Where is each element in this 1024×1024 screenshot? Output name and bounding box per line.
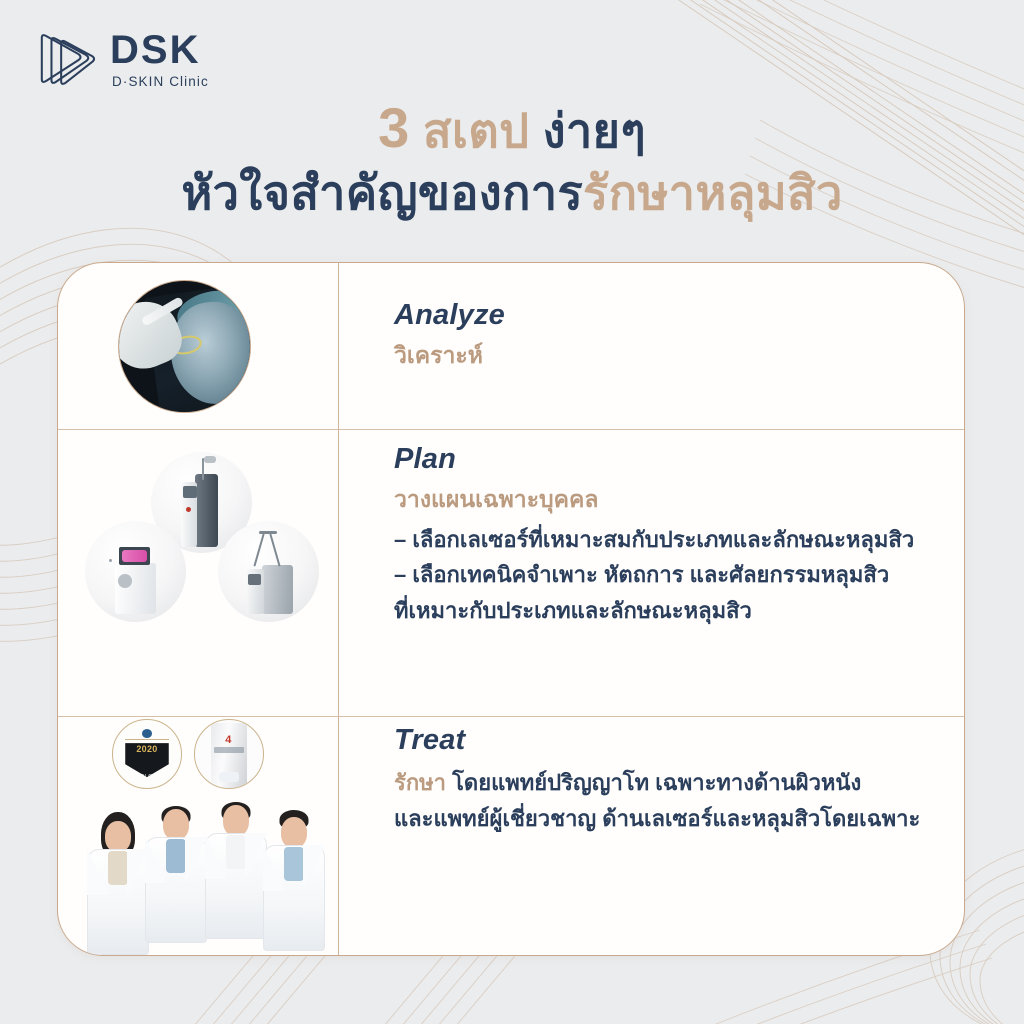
plan-line-2: – เลือกเทคนิคจำเพาะ หัตถการ และศัลยกรรมห… <box>394 557 964 593</box>
skin-analysis-photo <box>118 280 251 413</box>
plan-title-th: วางแผนเฉพาะบุคคล <box>394 482 964 518</box>
trophy-label: 4 <box>222 734 234 743</box>
brand-name: DSK <box>110 30 209 70</box>
treat-title-en: Treat <box>394 725 964 757</box>
brand-logo: DSK D·SKIN Clinic <box>36 28 209 90</box>
treat-line-2: และแพทย์ผู้เชี่ยวชาญ ด้านเลเซอร์และหลุมส… <box>394 801 964 837</box>
headline-line-1: 3 สเตป ง่ายๆ <box>0 96 1024 161</box>
laser-machine-photo-2 <box>85 521 186 622</box>
doctor-4 <box>258 813 330 955</box>
award-badge-2020: 2020 D·SKIN CLINIC <box>112 719 182 789</box>
analyze-media <box>58 263 338 429</box>
poster-canvas: DSK D·SKIN Clinic 3 สเตป ง่ายๆ หัวใจสำคั… <box>0 0 1024 1024</box>
treat-lead: รักษา <box>394 770 446 795</box>
plan-title-en: Plan <box>394 444 964 476</box>
doctors-team-photo <box>80 805 320 955</box>
treat-text: Treat รักษา โดยแพทย์ปริญญาโท เฉพาะทางด้า… <box>338 717 964 956</box>
treat-line-1-rest: โดยแพทย์ปริญญาโท เฉพาะทางด้านผิวหนัง <box>446 770 861 795</box>
headline-line-2-navy: หัวใจสำคัญของการ <box>181 166 583 219</box>
plan-text: Plan วางแผนเฉพาะบุคคล – เลือกเลเซอร์ที่เ… <box>338 430 964 716</box>
award-badge-trophy: 4 <box>194 719 264 789</box>
dsk-triangle-logo-icon <box>36 28 96 90</box>
laser-machine-photo-3 <box>218 521 319 622</box>
headline-number: 3 <box>378 96 409 159</box>
treat-media: 2020 D·SKIN CLINIC 4 <box>58 717 338 956</box>
plan-line-1: – เลือกเลเซอร์ที่เหมาะสมกับประเภทและลักษ… <box>394 522 964 558</box>
page-title: 3 สเตป ง่ายๆ หัวใจสำคัญของการรักษาหลุมสิ… <box>0 96 1024 221</box>
brand-tagline: D·SKIN Clinic <box>112 75 209 89</box>
step-row-plan: Plan วางแผนเฉพาะบุคคล – เลือกเลเซอร์ที่เ… <box>58 430 964 716</box>
headline-line-1-tan: สเตป <box>410 104 543 157</box>
headline-line-2-tan: รักษาหลุมสิว <box>583 166 843 219</box>
headline-line-2: หัวใจสำคัญของการรักษาหลุมสิว <box>0 165 1024 221</box>
treat-line-1: รักษา โดยแพทย์ปริญญาโท เฉพาะทางด้านผิวหน… <box>394 765 964 801</box>
award-footer: D·SKIN CLINIC <box>113 774 181 780</box>
analyze-title-th: วิเคราะห์ <box>394 338 964 374</box>
step-row-analyze: Analyze วิเคราะห์ <box>58 263 964 429</box>
analyze-title-en: Analyze <box>394 300 964 332</box>
plan-media <box>58 430 338 716</box>
headline-line-1-navy: ง่ายๆ <box>543 104 646 157</box>
award-year: 2020 <box>113 744 181 754</box>
analyze-text: Analyze วิเคราะห์ <box>338 263 964 429</box>
steps-card: Analyze วิเคราะห์ <box>57 262 965 956</box>
plan-line-3: ที่เหมาะกับประเภทและลักษณะหลุมสิว <box>394 593 964 629</box>
step-row-treat: 2020 D·SKIN CLINIC 4 <box>58 717 964 956</box>
